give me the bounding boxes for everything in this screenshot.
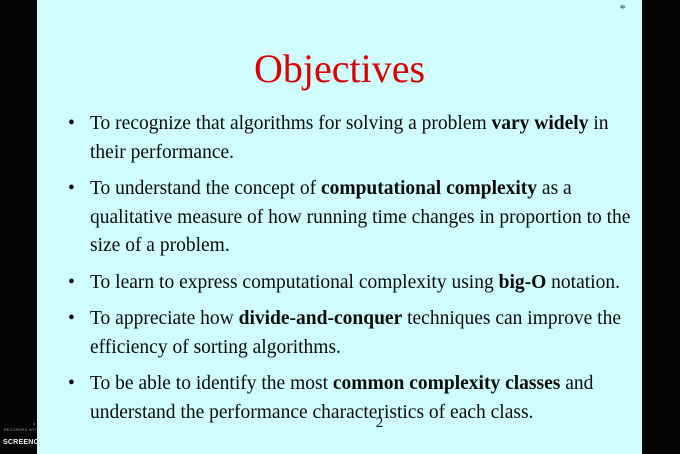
letterbox-right xyxy=(642,0,680,454)
list-item-text: To learn to express computational comple… xyxy=(90,269,638,298)
emphasis-text: divide-and-conquer xyxy=(239,308,403,329)
objectives-bullet-list: •To recognize that algorithms for solvin… xyxy=(60,110,638,427)
presentation-slide: * Objectives •To recognize that algorith… xyxy=(37,0,642,454)
bullet-dot-icon: • xyxy=(68,269,82,298)
body-text: To recognize that algorithms for solving… xyxy=(90,113,492,134)
list-item: •To learn to express computational compl… xyxy=(60,269,638,298)
watermark-dot: ● xyxy=(33,423,35,426)
emphasis-text: vary widely xyxy=(492,113,589,134)
body-text: notation. xyxy=(546,272,620,293)
list-item-text: To recognize that algorithms for solving… xyxy=(90,110,638,167)
page-number-value: 2 xyxy=(376,415,384,431)
emphasis-text: common complexity classes xyxy=(333,373,560,394)
bullet-dot-icon: • xyxy=(68,370,82,399)
list-item-text: To appreciate how divide-and-conquer tec… xyxy=(90,305,638,362)
body-text: To learn to express computational comple… xyxy=(90,272,499,293)
body-text: To appreciate how xyxy=(90,308,239,329)
body-text: To understand the concept of xyxy=(90,178,321,199)
screen-recording-frame: ● RECORDED WITH SCREENCAST -MATIC * Obje… xyxy=(0,0,680,454)
page-number: 2 xyxy=(37,415,642,432)
list-item: •To appreciate how divide-and-conquer te… xyxy=(60,305,638,362)
list-item-text: To understand the concept of computation… xyxy=(90,175,638,261)
body-text: To be able to identify the most xyxy=(90,373,333,394)
list-item: •To understand the concept of computatio… xyxy=(60,175,638,261)
list-item: •To recognize that algorithms for solvin… xyxy=(60,110,638,167)
letterbox-left: ● RECORDED WITH SCREENCAST -MATIC xyxy=(0,0,37,454)
emphasis-text: computational complexity xyxy=(321,178,537,199)
bullet-dot-icon: • xyxy=(68,175,82,204)
bullet-dot-icon: • xyxy=(68,110,82,139)
page-title: Objectives xyxy=(37,48,642,90)
emphasis-text: big-O xyxy=(499,272,547,293)
bullet-dot-icon: • xyxy=(68,305,82,334)
asterisk-marker-icon: * xyxy=(620,2,627,15)
